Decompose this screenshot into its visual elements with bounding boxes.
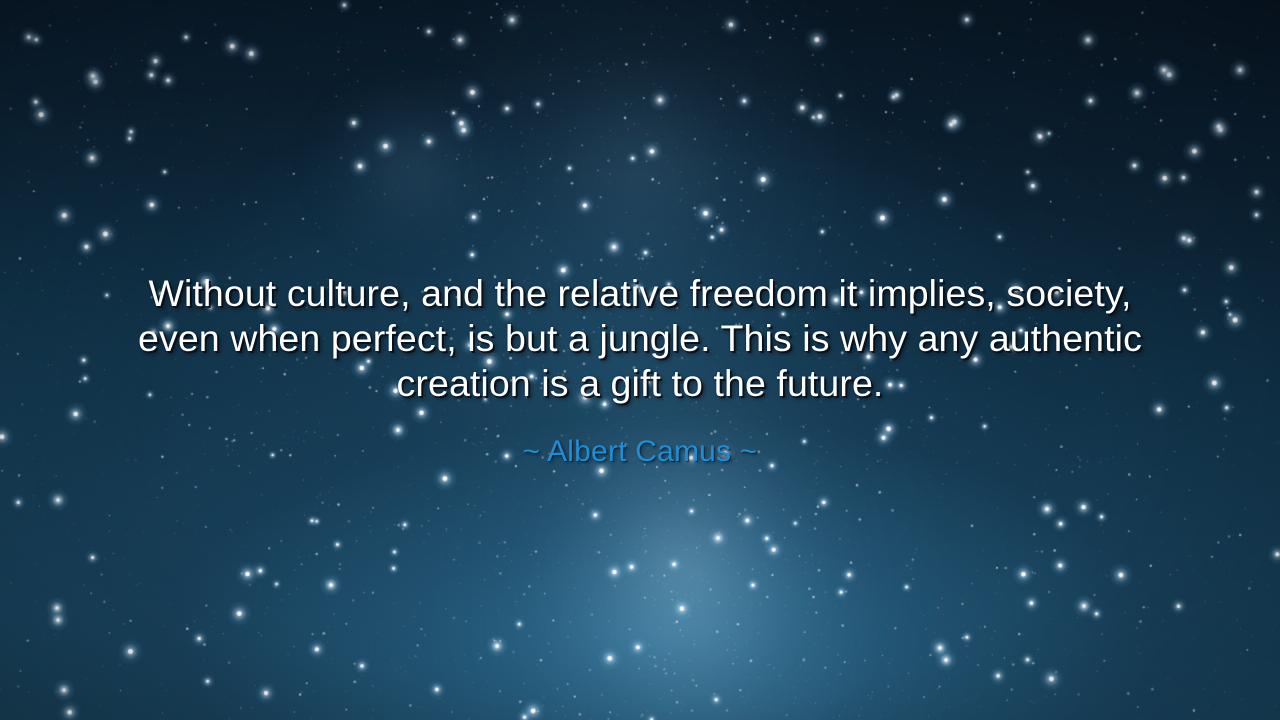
quote-line-1: Without culture, and the relative freedo…	[0, 271, 1280, 316]
quote-line-2: even when perfect, is but a jungle. This…	[0, 316, 1280, 361]
quote-block: Without culture, and the relative freedo…	[0, 271, 1280, 470]
quote-attribution: ~ Albert Camus ~	[0, 434, 1280, 470]
quote-line-3: creation is a gift to the future.	[0, 361, 1280, 406]
quote-wallpaper: Without culture, and the relative freedo…	[0, 0, 1280, 720]
